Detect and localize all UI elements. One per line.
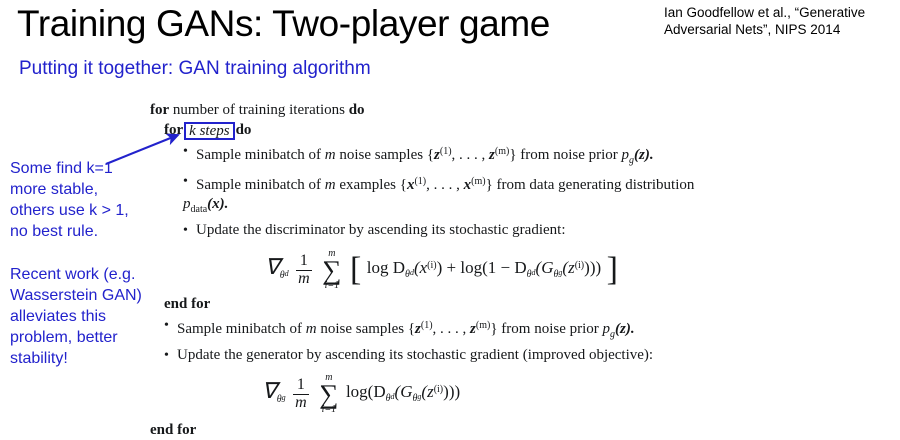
symbol-p: p xyxy=(183,196,191,212)
formula-body: log(Dθd(Gθg(z(i)))) xyxy=(346,380,460,408)
subscript-d: d xyxy=(285,269,289,278)
arg-G: (G xyxy=(395,382,413,401)
arg-G: (G xyxy=(536,258,554,277)
superscript: (m) xyxy=(476,320,490,331)
superscript-i: (i) xyxy=(434,384,443,395)
algorithm-line-end-for-inner: end for xyxy=(164,295,892,314)
brace-open: { xyxy=(408,321,415,337)
arg-z: (z xyxy=(421,382,433,401)
keyword-end-for: end for xyxy=(164,296,210,312)
bullet-text: Sample minibatch of xyxy=(196,177,325,193)
bullet-text: noise samples xyxy=(317,321,408,337)
annotation-line: others use k > 1, xyxy=(10,200,129,221)
ellipsis: , . . . , xyxy=(426,177,464,193)
symbol-p: p xyxy=(603,321,611,337)
inner-loop-bullets: Sample minibatch of m noise samples {z(1… xyxy=(183,142,892,240)
page-title: Training GANs: Two-player game xyxy=(17,2,550,46)
bullet-text: Sample minibatch of xyxy=(196,147,325,163)
log-D: log D xyxy=(367,258,405,277)
superscript: (m) xyxy=(495,146,509,157)
subscript-data: data xyxy=(191,204,208,215)
symbol-x-paren: (x). xyxy=(207,196,228,212)
formula-body: log Dθd(x(i)) + log(1 − Dθd(Gθg(z(i)))) xyxy=(367,256,601,284)
bracket-left: [ xyxy=(350,258,361,282)
symbol-z-paren: (z). xyxy=(634,147,654,163)
symbol-z-paren: (z). xyxy=(615,321,635,337)
slide-subtitle: Putting it together: GAN training algori… xyxy=(19,58,371,80)
subscript-g: g xyxy=(282,393,286,402)
symbol-p: p xyxy=(622,147,630,163)
symbol-m: m xyxy=(325,177,336,193)
bullet-sample-examples-continuation: pdata(x). xyxy=(183,195,892,219)
brace-open: { xyxy=(427,147,434,163)
formula-generator-gradient: ∇θg 1 m m ∑ i=1 log(Dθd(Gθg(z(i)))) xyxy=(262,373,892,415)
annotation-wasserstein-note: Recent work (e.g. Wasserstein GAN) allev… xyxy=(10,264,142,369)
annotation-line: Recent work (e.g. xyxy=(10,264,142,285)
bullet-text: from noise prior xyxy=(517,147,622,163)
k-steps-text: k steps xyxy=(189,123,229,139)
annotation-line: no best rule. xyxy=(10,221,129,242)
summation: m ∑ i=1 xyxy=(319,373,338,415)
sigma-symbol: ∑ xyxy=(322,259,341,281)
closing-parens: ))) xyxy=(443,382,460,401)
keyword-do: do xyxy=(236,122,252,138)
annotation-line: problem, better xyxy=(10,327,142,348)
log-D: log(D xyxy=(346,382,386,401)
k-steps-highlight-box: k steps xyxy=(184,122,234,140)
for-outer-text: number of training iterations xyxy=(169,102,349,118)
ellipsis: , . . . , xyxy=(452,147,490,163)
formula-expression: ∇θg 1 m m ∑ i=1 log(Dθd(Gθg(z(i)))) xyxy=(262,373,460,415)
bullet-text: Sample minibatch of xyxy=(177,321,306,337)
annotation-line: alleviates this xyxy=(10,306,142,327)
arg-z: (z xyxy=(562,258,574,277)
sum-lower-limit: i=1 xyxy=(322,281,341,291)
bullet-text: examples xyxy=(336,177,400,193)
formula-expression: ∇θd 1 m m ∑ i=1 [ log Dθd(x(i)) + log(1 … xyxy=(265,249,619,291)
brace-close: } xyxy=(490,321,497,337)
keyword-end-for: end for xyxy=(150,422,196,438)
plus-log-one-minus-D: ) + log(1 − D xyxy=(437,258,527,277)
bullet-text: from data generating distribution xyxy=(493,177,695,193)
bullet-update-discriminator: Update the discriminator by ascending it… xyxy=(183,221,892,240)
closing-parens: ))) xyxy=(584,258,601,277)
brace-close: } xyxy=(509,147,516,163)
keyword-for: for xyxy=(150,102,169,118)
bullet-text: from noise prior xyxy=(498,321,603,337)
sum-lower-limit: i=1 xyxy=(319,405,338,415)
brace-close: } xyxy=(486,177,493,193)
keyword-for: for xyxy=(164,122,183,138)
brace-open: { xyxy=(400,177,407,193)
nabla-symbol: ∇ xyxy=(262,378,277,403)
algorithm-block: for number of training iterations do for… xyxy=(150,101,892,440)
nabla-symbol: ∇ xyxy=(265,254,280,279)
symbol-m: m xyxy=(306,321,317,337)
symbol-m: m xyxy=(325,147,336,163)
superscript: (1) xyxy=(440,146,452,157)
numerator: 1 xyxy=(293,377,309,394)
superscript-i: (i) xyxy=(575,260,584,271)
algorithm-line-end-for-outer: end for xyxy=(150,421,892,440)
superscript: (1) xyxy=(421,320,433,331)
superscript: (1) xyxy=(414,176,426,187)
numerator: 1 xyxy=(296,253,312,270)
citation-line-1: Ian Goodfellow et al., “Generative xyxy=(664,4,896,21)
annotation-line: stability! xyxy=(10,348,142,369)
bullet-sample-noise-1: Sample minibatch of m noise samples {z(1… xyxy=(183,142,892,170)
outer-loop-bullets: Sample minibatch of m noise samples {z(1… xyxy=(164,316,892,365)
sigma-symbol: ∑ xyxy=(319,383,338,405)
annotation-line: Wasserstein GAN) xyxy=(10,285,142,306)
bullet-text: noise samples xyxy=(336,147,427,163)
keyword-do: do xyxy=(349,102,365,118)
formula-discriminator-gradient: ∇θd 1 m m ∑ i=1 [ log Dθd(x(i)) + log(1 … xyxy=(265,249,892,291)
denominator: m xyxy=(296,270,312,288)
arg-x: (x xyxy=(414,258,427,277)
fraction-one-over-m: 1 m xyxy=(296,253,312,288)
bullet-update-generator: Update the generator by ascending its st… xyxy=(164,346,892,365)
bullet-sample-noise-2: Sample minibatch of m noise samples {z(1… xyxy=(164,316,892,344)
ellipsis: , . . . , xyxy=(433,321,471,337)
fraction-one-over-m: 1 m xyxy=(293,377,309,412)
bracket-right: ] xyxy=(607,258,618,282)
denominator: m xyxy=(293,394,309,412)
annotation-line: more stable, xyxy=(10,179,129,200)
citation: Ian Goodfellow et al., “Generative Adver… xyxy=(664,4,896,38)
symbol-x: x xyxy=(464,177,472,193)
citation-line-2: Adversarial Nets”, NIPS 2014 xyxy=(664,21,896,38)
algorithm-line-for-outer: for number of training iterations do xyxy=(150,101,892,120)
bullet-sample-examples: Sample minibatch of m examples {x(1), . … xyxy=(183,172,836,195)
superscript: (m) xyxy=(471,176,485,187)
summation: m ∑ i=1 xyxy=(322,249,341,291)
superscript-i: (i) xyxy=(427,260,436,271)
algorithm-line-for-inner: fork stepsdo xyxy=(164,121,892,140)
